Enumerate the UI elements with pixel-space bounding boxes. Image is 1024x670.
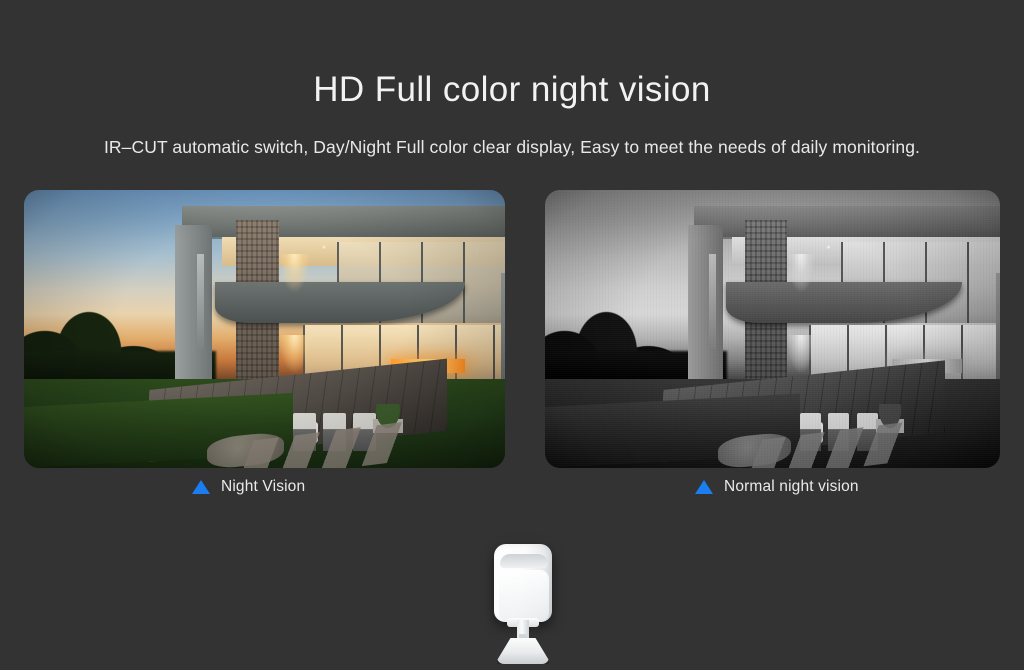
camera-top-cap xyxy=(500,554,548,568)
heading-block: HD Full color night vision IR–CUT automa… xyxy=(0,0,1024,157)
comparison-section xyxy=(0,190,1024,468)
panel-night-vision[interactable] xyxy=(24,190,505,468)
facade-slot xyxy=(197,254,204,350)
wall-sconce-upper xyxy=(279,254,309,292)
caption-label: Normal night vision xyxy=(724,478,859,496)
camera-body xyxy=(494,544,552,622)
camera-mount-base xyxy=(497,638,549,664)
scene-grayscale-ir xyxy=(545,190,1000,468)
triangle-up-icon xyxy=(695,480,713,494)
roof-slab xyxy=(182,206,505,237)
triangle-up-icon xyxy=(192,480,210,494)
page-title: HD Full color night vision xyxy=(0,0,1024,107)
caption-label: Night Vision xyxy=(221,478,305,496)
wall-sconce-lower xyxy=(787,335,816,373)
caption-night-vision: Night Vision xyxy=(192,478,305,496)
wall-sconce-lower xyxy=(279,335,309,373)
security-camera[interactable] xyxy=(493,528,553,670)
facade-slot xyxy=(709,254,716,350)
wall-sconce-upper xyxy=(787,254,816,292)
caption-row: Night Vision Normal night vision xyxy=(0,478,1024,510)
page-subtitle: IR–CUT automatic switch, Day/Night Full … xyxy=(0,107,1024,157)
scene-color-dusk xyxy=(24,190,505,468)
panel-normal-night-vision[interactable] xyxy=(545,190,1000,468)
caption-normal-night-vision: Normal night vision xyxy=(695,478,859,496)
facade-fin-wall xyxy=(688,225,723,402)
camera-lens-face xyxy=(499,570,549,622)
roof-slab xyxy=(694,206,1000,237)
facade-fin-wall xyxy=(175,225,212,402)
